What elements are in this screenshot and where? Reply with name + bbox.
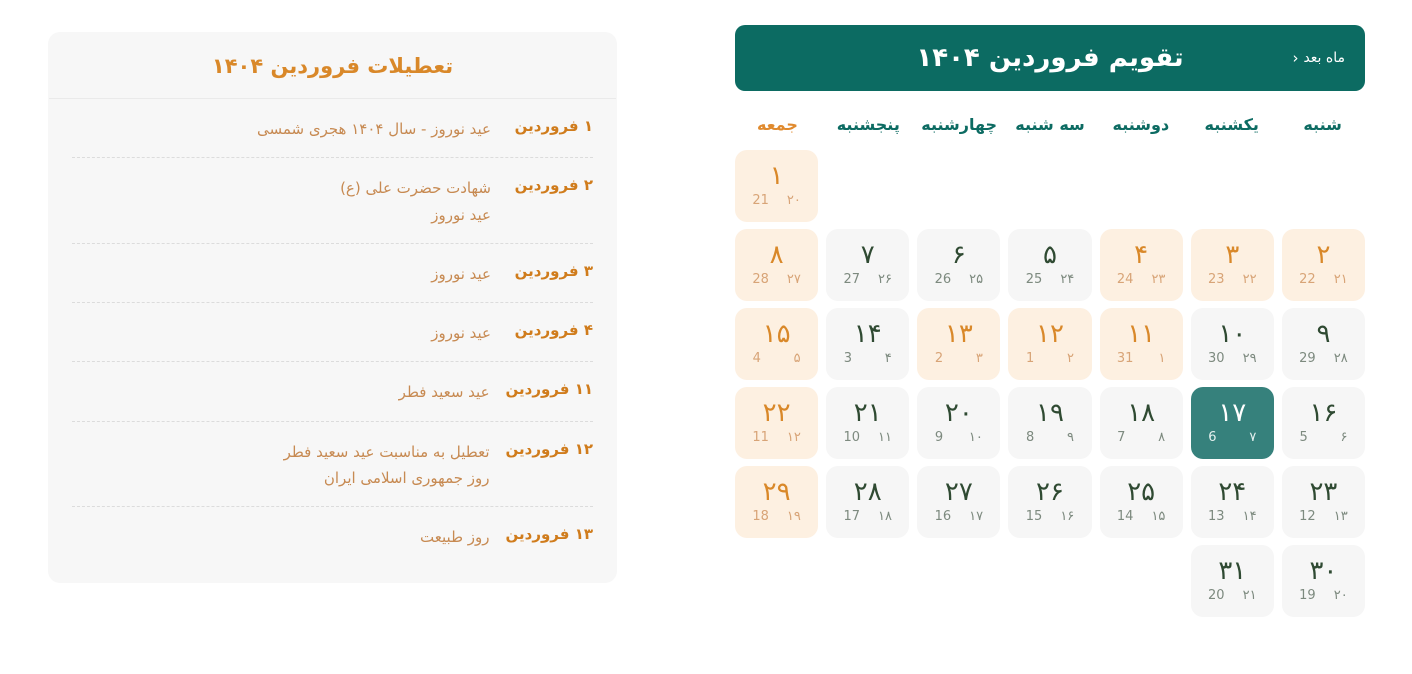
calendar-widget: تقویم فروردین ۱۴۰۴ ماه بعد ‹ شنبهیکشنبهد… xyxy=(735,25,1365,617)
day-gregorian-date: 14 xyxy=(1117,510,1134,523)
day-secondary-dates: ۶5 xyxy=(1282,431,1365,444)
day-number: ۱۷ xyxy=(1218,400,1246,427)
day-secondary-dates: ۱۵14 xyxy=(1100,510,1183,523)
day-cell[interactable]: ۲۲۱۲11 xyxy=(735,387,818,459)
day-number: ۱۹ xyxy=(1036,400,1064,427)
day-hijri-date: ۵ xyxy=(785,352,801,365)
day-secondary-dates: ۲۱20 xyxy=(1191,589,1274,602)
day-secondary-dates: ۴3 xyxy=(826,352,909,365)
day-secondary-dates: ۱۸17 xyxy=(826,510,909,523)
weekday-header-6: جمعه xyxy=(736,109,819,144)
weekday-header-row: شنبهیکشنبهدوشنبهسه شنبهچهارشنبهپنجشنبهجم… xyxy=(735,109,1365,144)
day-cell[interactable]: ۱۷۷6 xyxy=(1191,387,1274,459)
day-hijri-date: ۹ xyxy=(1058,431,1074,444)
day-secondary-dates: ۲۴25 xyxy=(1008,273,1091,286)
day-cell[interactable]: ۲۳۱۳12 xyxy=(1282,466,1365,538)
holiday-date: ۱۳ فروردین xyxy=(506,524,593,543)
day-cell[interactable]: ۷۲۶27 xyxy=(826,229,909,301)
day-secondary-dates: ۱۰9 xyxy=(917,431,1000,444)
day-number: ۵ xyxy=(1043,242,1057,269)
day-cell[interactable]: ۹۲۸29 xyxy=(1282,308,1365,380)
day-gregorian-date: 8 xyxy=(1026,431,1042,444)
day-secondary-dates: ۲۷28 xyxy=(735,273,818,286)
day-cell[interactable]: ۳۱۲۱20 xyxy=(1191,545,1274,617)
day-cell[interactable]: ۱۲۲1 xyxy=(1008,308,1091,380)
day-secondary-dates: ۹8 xyxy=(1008,431,1091,444)
weekday-header-5: پنجشنبه xyxy=(827,109,910,144)
day-number: ۱۰ xyxy=(1218,321,1246,348)
day-cell-empty xyxy=(1100,150,1183,222)
day-hijri-date: ۲۰ xyxy=(785,194,801,207)
holiday-date: ۳ فروردین xyxy=(507,261,593,280)
holiday-description-line: تعطیل به مناسبت عید سعید فطر xyxy=(72,439,490,465)
day-cell[interactable]: ۲۲۱22 xyxy=(1282,229,1365,301)
day-secondary-dates: ۱۹18 xyxy=(735,510,818,523)
day-hijri-date: ۲۴ xyxy=(1058,273,1074,286)
day-cell-empty xyxy=(917,150,1000,222)
day-number: ۴ xyxy=(1134,242,1148,269)
holiday-row: ۴ فروردینعید نوروز xyxy=(72,303,593,362)
day-hijri-date: ۲۳ xyxy=(1149,273,1165,286)
day-cell[interactable]: ۲۱۱۱10 xyxy=(826,387,909,459)
day-cell[interactable]: ۲۷۱۷16 xyxy=(917,466,1000,538)
day-hijri-date: ۲۶ xyxy=(876,273,892,286)
day-number: ۲۷ xyxy=(945,479,973,506)
day-cell[interactable]: ۱۰۲۹30 xyxy=(1191,308,1274,380)
holidays-panel: تعطیلات فروردین ۱۴۰۴ ۱ فروردینعید نوروز … xyxy=(48,32,617,583)
day-hijri-date: ۱۴ xyxy=(1241,510,1257,523)
day-gregorian-date: 27 xyxy=(843,273,860,286)
day-number: ۲۴ xyxy=(1218,479,1246,506)
day-hijri-date: ۲۷ xyxy=(785,273,801,286)
day-number: ۳ xyxy=(1225,242,1239,269)
day-cell-empty xyxy=(1191,150,1274,222)
day-gregorian-date: 30 xyxy=(1208,352,1225,365)
next-month-button[interactable]: ماه بعد ‹ xyxy=(1286,46,1351,70)
day-number: ۲۰ xyxy=(945,400,973,427)
day-number: ۲۳ xyxy=(1309,479,1337,506)
day-number: ۸ xyxy=(770,242,784,269)
day-gregorian-date: 3 xyxy=(844,352,860,365)
day-secondary-dates: ۱۱10 xyxy=(826,431,909,444)
day-hijri-date: ۱۹ xyxy=(785,510,801,523)
day-secondary-dates: ۷6 xyxy=(1191,431,1274,444)
day-secondary-dates: ۲1 xyxy=(1008,352,1091,365)
day-number: ۲۸ xyxy=(854,479,882,506)
day-gregorian-date: 16 xyxy=(935,510,952,523)
day-gregorian-date: 11 xyxy=(752,431,769,444)
day-cell[interactable]: ۳۰۲۰19 xyxy=(1282,545,1365,617)
day-cell[interactable]: ۱۲۰21 xyxy=(735,150,818,222)
holiday-description: عید نوروز xyxy=(72,320,491,346)
day-hijri-date: ۷ xyxy=(1240,431,1256,444)
day-gregorian-date: 13 xyxy=(1208,510,1225,523)
holiday-description-line: روز طبیعت xyxy=(72,524,490,550)
day-gregorian-date: 15 xyxy=(1026,510,1043,523)
day-cell[interactable]: ۱۶۶5 xyxy=(1282,387,1365,459)
holiday-date: ۱۲ فروردین xyxy=(506,439,593,458)
day-secondary-dates: ۱۲11 xyxy=(735,431,818,444)
calendar-header: تقویم فروردین ۱۴۰۴ ماه بعد ‹ xyxy=(735,25,1365,91)
chevron-left-icon: ‹ xyxy=(1292,51,1298,66)
weekday-header-4: چهارشنبه xyxy=(918,109,1001,144)
day-hijri-date: ۶ xyxy=(1331,431,1347,444)
day-number: ۲ xyxy=(1316,242,1330,269)
holiday-description: عید سعید فطر xyxy=(72,379,490,405)
day-number: ۶ xyxy=(952,242,966,269)
day-hijri-date: ۱۶ xyxy=(1058,510,1074,523)
day-gregorian-date: 26 xyxy=(935,273,952,286)
day-secondary-dates: ۲۰21 xyxy=(735,194,818,207)
holiday-description-line: عید نوروز xyxy=(72,320,491,346)
day-cell[interactable]: ۸۲۷28 xyxy=(735,229,818,301)
day-gregorian-date: 21 xyxy=(752,194,769,207)
holiday-date: ۱ فروردین xyxy=(507,116,593,135)
day-gregorian-date: 23 xyxy=(1208,273,1225,286)
day-hijri-date: ۱۷ xyxy=(967,510,983,523)
holiday-description-line: عید نوروز xyxy=(72,261,491,287)
day-secondary-dates: ۲۰19 xyxy=(1282,589,1365,602)
day-gregorian-date: 7 xyxy=(1117,431,1133,444)
day-hijri-date: ۲۰ xyxy=(1332,589,1348,602)
day-hijri-date: ۲۱ xyxy=(1241,589,1257,602)
day-number: ۲۵ xyxy=(1127,479,1155,506)
day-hijri-date: ۳ xyxy=(967,352,983,365)
day-cell[interactable]: ۱۸۸7 xyxy=(1100,387,1183,459)
day-secondary-dates: ۲۳24 xyxy=(1100,273,1183,286)
day-gregorian-date: 28 xyxy=(752,273,769,286)
holidays-panel-title: تعطیلات فروردین ۱۴۰۴ xyxy=(49,32,616,99)
weekday-header-3: سه شنبه xyxy=(1009,109,1092,144)
day-number: ۱۸ xyxy=(1127,400,1155,427)
holiday-description-line: عید نوروز xyxy=(72,202,491,228)
day-cell[interactable]: ۱۹۹8 xyxy=(1008,387,1091,459)
day-cell[interactable]: ۲۵۱۵14 xyxy=(1100,466,1183,538)
day-hijri-date: ۲ xyxy=(1058,352,1074,365)
day-hijri-date: ۴ xyxy=(876,352,892,365)
day-hijri-date: ۱۵ xyxy=(1149,510,1165,523)
day-cell[interactable]: ۱۵۵4 xyxy=(735,308,818,380)
holiday-row: ۱ فروردینعید نوروز - سال ۱۴۰۴ هجری شمسی xyxy=(72,99,593,158)
day-gregorian-date: 9 xyxy=(935,431,951,444)
day-cell[interactable]: ۱۴۴3 xyxy=(826,308,909,380)
day-hijri-date: ۱۲ xyxy=(785,431,801,444)
day-secondary-dates: ۱۶15 xyxy=(1008,510,1091,523)
holiday-row: ۲ فروردینشهادت حضرت علی (ع)عید نوروز xyxy=(72,158,593,244)
day-secondary-dates: ۱31 xyxy=(1100,352,1183,365)
day-secondary-dates: ۳2 xyxy=(917,352,1000,365)
holiday-row: ۱۲ فروردینتعطیل به مناسبت عید سعید فطررو… xyxy=(72,422,593,508)
day-gregorian-date: 1 xyxy=(1026,352,1042,365)
day-secondary-dates: ۲۸29 xyxy=(1282,352,1365,365)
holiday-description-line: عید نوروز - سال ۱۴۰۴ هجری شمسی xyxy=(72,116,491,142)
day-cell[interactable]: ۲۴۱۴13 xyxy=(1191,466,1274,538)
day-cell-empty xyxy=(826,150,909,222)
day-hijri-date: ۲۲ xyxy=(1241,273,1257,286)
day-cell-empty xyxy=(1282,150,1365,222)
day-hijri-date: ۸ xyxy=(1149,431,1165,444)
calendar-month-title: تقویم فروردین ۱۴۰۴ xyxy=(916,43,1183,73)
day-cell[interactable]: ۶۲۵26 xyxy=(917,229,1000,301)
day-gregorian-date: 17 xyxy=(843,510,860,523)
day-gregorian-date: 20 xyxy=(1208,589,1225,602)
day-number: ۷ xyxy=(861,242,875,269)
day-gregorian-date: 10 xyxy=(843,431,860,444)
day-hijri-date: ۱۸ xyxy=(876,510,892,523)
holiday-description-line: شهادت حضرت علی (ع) xyxy=(72,175,491,201)
holiday-description: عید نوروز - سال ۱۴۰۴ هجری شمسی xyxy=(72,116,491,142)
calendar-days-grid: ۱۲۰21۲۲۱22۳۲۲23۴۲۳24۵۲۴25۶۲۵26۷۲۶27۸۲۷28… xyxy=(735,150,1365,617)
day-secondary-dates: ۱۷16 xyxy=(917,510,1000,523)
day-secondary-dates: ۱۴13 xyxy=(1191,510,1274,523)
day-cell[interactable]: ۲۸۱۸17 xyxy=(826,466,909,538)
day-cell[interactable]: ۵۲۴25 xyxy=(1008,229,1091,301)
day-secondary-dates: ۲۲23 xyxy=(1191,273,1274,286)
day-number: ۱ xyxy=(770,163,784,190)
day-hijri-date: ۱۰ xyxy=(967,431,983,444)
day-number: ۱۶ xyxy=(1309,400,1337,427)
day-number: ۱۱ xyxy=(1127,321,1155,348)
holiday-date: ۱۱ فروردین xyxy=(506,379,593,398)
day-hijri-date: ۲۱ xyxy=(1332,273,1348,286)
day-hijri-date: ۱ xyxy=(1149,352,1165,365)
day-secondary-dates: ۱۳12 xyxy=(1282,510,1365,523)
day-cell[interactable]: ۳۲۲23 xyxy=(1191,229,1274,301)
holiday-description: تعطیل به مناسبت عید سعید فطرروز جمهوری ا… xyxy=(72,439,490,492)
calendar-page: تعطیلات فروردین ۱۴۰۴ ۱ فروردینعید نوروز … xyxy=(0,0,1412,674)
day-hijri-date: ۲۵ xyxy=(967,273,983,286)
next-month-label: ماه بعد xyxy=(1303,50,1345,66)
holiday-description: شهادت حضرت علی (ع)عید نوروز xyxy=(72,175,491,228)
holiday-date: ۴ فروردین xyxy=(507,320,593,339)
day-gregorian-date: 19 xyxy=(1299,589,1316,602)
day-hijri-date: ۱۳ xyxy=(1332,510,1348,523)
day-gregorian-date: 12 xyxy=(1299,510,1316,523)
holiday-row: ۱۱ فروردینعید سعید فطر xyxy=(72,362,593,421)
weekday-header-0: شنبه xyxy=(1281,109,1364,144)
holiday-date: ۲ فروردین xyxy=(507,175,593,194)
day-number: ۱۳ xyxy=(945,321,973,348)
holidays-list: ۱ فروردینعید نوروز - سال ۱۴۰۴ هجری شمسی۲… xyxy=(48,99,617,565)
day-number: ۱۲ xyxy=(1036,321,1064,348)
day-cell[interactable]: ۲۹۱۹18 xyxy=(735,466,818,538)
day-hijri-date: ۲۸ xyxy=(1332,352,1348,365)
day-secondary-dates: ۲۵26 xyxy=(917,273,1000,286)
day-hijri-date: ۱۱ xyxy=(876,431,892,444)
day-gregorian-date: 18 xyxy=(752,510,769,523)
holiday-row: ۳ فروردینعید نوروز xyxy=(72,244,593,303)
holiday-description: روز طبیعت xyxy=(72,524,490,550)
day-secondary-dates: ۲۶27 xyxy=(826,273,909,286)
holiday-description-line: عید سعید فطر xyxy=(72,379,490,405)
weekday-header-1: یکشنبه xyxy=(1190,109,1273,144)
day-cell[interactable]: ۲۰۱۰9 xyxy=(917,387,1000,459)
day-gregorian-date: 29 xyxy=(1299,352,1316,365)
day-number: ۹ xyxy=(1316,321,1330,348)
day-gregorian-date: 25 xyxy=(1026,273,1043,286)
weekday-header-2: دوشنبه xyxy=(1099,109,1182,144)
day-secondary-dates: ۵4 xyxy=(735,352,818,365)
day-cell[interactable]: ۲۶۱۶15 xyxy=(1008,466,1091,538)
holiday-description: عید نوروز xyxy=(72,261,491,287)
day-secondary-dates: ۸7 xyxy=(1100,431,1183,444)
day-cell[interactable]: ۴۲۳24 xyxy=(1100,229,1183,301)
holiday-description-line: روز جمهوری اسلامی ایران xyxy=(72,465,490,491)
day-number: ۱۵ xyxy=(763,321,791,348)
day-number: ۲۶ xyxy=(1036,479,1064,506)
day-gregorian-date: 22 xyxy=(1299,273,1316,286)
day-gregorian-date: 2 xyxy=(935,352,951,365)
day-cell[interactable]: ۱۱۱31 xyxy=(1100,308,1183,380)
day-gregorian-date: 6 xyxy=(1208,431,1224,444)
day-number: ۳۱ xyxy=(1218,558,1246,585)
day-number: ۱۴ xyxy=(854,321,882,348)
day-gregorian-date: 5 xyxy=(1299,431,1315,444)
day-gregorian-date: 24 xyxy=(1117,273,1134,286)
day-gregorian-date: 31 xyxy=(1117,352,1134,365)
day-hijri-date: ۲۹ xyxy=(1241,352,1257,365)
day-secondary-dates: ۲۹30 xyxy=(1191,352,1274,365)
day-number: ۳۰ xyxy=(1309,558,1337,585)
day-number: ۲۲ xyxy=(763,400,791,427)
day-number: ۲۹ xyxy=(763,479,791,506)
day-cell[interactable]: ۱۳۳2 xyxy=(917,308,1000,380)
day-number: ۲۱ xyxy=(854,400,882,427)
holiday-row: ۱۳ فروردینروز طبیعت xyxy=(72,507,593,565)
day-secondary-dates: ۲۱22 xyxy=(1282,273,1365,286)
day-cell-empty xyxy=(1008,150,1091,222)
day-gregorian-date: 4 xyxy=(753,352,769,365)
